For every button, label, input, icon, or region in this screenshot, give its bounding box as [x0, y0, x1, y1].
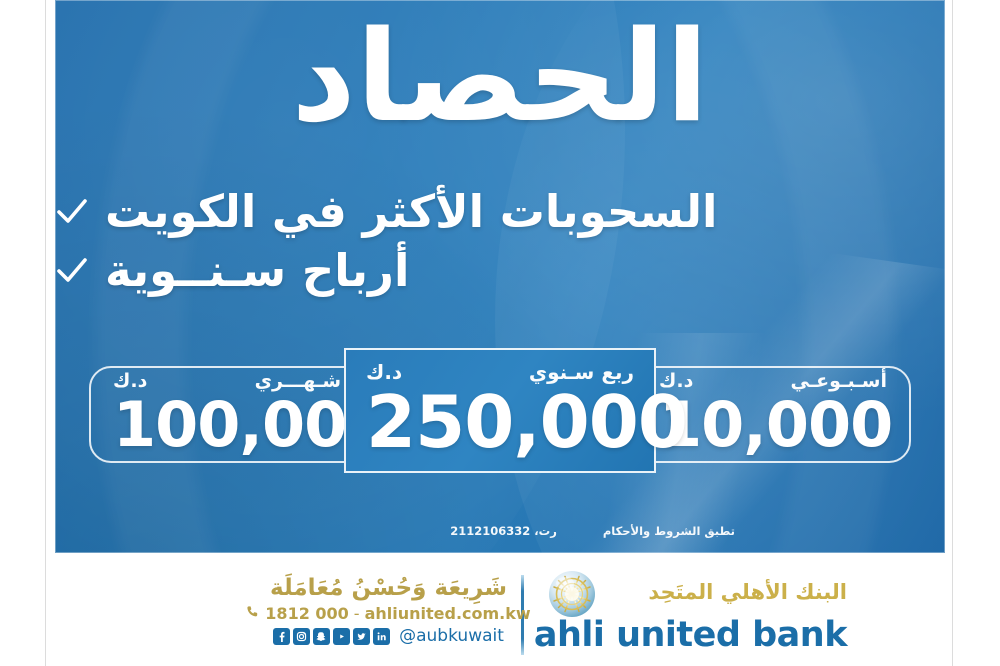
feature-item-1-label: السحوبات الأكثر في الكويت: [105, 185, 717, 240]
feature-list: السحوبات الأكثر في الكويت أرباح سـنــوية: [55, 185, 850, 303]
prize-band: أسـبـوعـي د.ك 10,000 ربع سـنوي د.ك 250,0…: [89, 348, 911, 476]
prize-card-monthly: شـهـــري د.ك 100,000: [91, 366, 359, 463]
footer-bar: شَرِيعَة وَحُسْنُ مُعَامَلَة 1812 000 - …: [55, 553, 945, 666]
contact-website[interactable]: ahliunited.com.kw: [365, 604, 531, 623]
check-icon: [55, 249, 89, 293]
prize-monthly-period: شـهـــري: [255, 372, 341, 391]
twitter-icon[interactable]: [353, 628, 370, 645]
youtube-icon[interactable]: [333, 628, 350, 645]
social-links: @aubkuwait: [273, 626, 504, 646]
prize-quarterly-currency: د.ك: [366, 362, 402, 382]
poster-headline: الحصاد: [55, 14, 945, 140]
license-number-text: رت، 2112106332: [450, 524, 557, 538]
terms-and-conditions-text: تطبق الشروط والأحكام: [603, 524, 735, 538]
bank-logo-top-row: البنك الأهلي المتَحِد: [547, 569, 847, 619]
facebook-icon[interactable]: [273, 628, 290, 645]
sharia-tagline: شَرِيعَة وَحُسْنُ مُعَامَلَة: [270, 576, 507, 601]
feature-item-2: أرباح سـنــوية: [55, 244, 850, 303]
page-guide-right: [952, 0, 953, 666]
globe-emblem-icon: [547, 569, 597, 619]
bank-logo: البنك الأهلي المتَحِد: [547, 567, 847, 655]
prize-card-quarterly: ربع سـنوي د.ك 250,000: [344, 348, 656, 473]
bank-name-english: ahli united bank: [534, 617, 847, 654]
page-guide-left: [45, 0, 46, 666]
poster-panel: الحصاد السحوبات الأكثر في الكويت أرباح س…: [55, 0, 945, 553]
phone-icon: [246, 605, 260, 622]
fine-print: تطبق الشروط والأحكام رت، 2112106332: [55, 524, 945, 538]
contact-block: شَرِيعَة وَحُسْنُ مُعَامَلَة 1812 000 - …: [271, 569, 506, 653]
check-icon: [55, 190, 89, 234]
contact-phone-number[interactable]: 1812 000: [265, 604, 349, 623]
ad-page: الحصاد السحوبات الأكثر في الكويت أرباح س…: [0, 0, 1000, 666]
prize-quarterly-period: ربع سـنوي: [529, 362, 634, 382]
prize-monthly-amount: 100,000: [113, 393, 341, 456]
prize-weekly-amount: 10,000: [659, 393, 887, 456]
prize-weekly-period: أسـبـوعـي: [790, 372, 887, 391]
snapchat-icon[interactable]: [313, 628, 330, 645]
instagram-icon[interactable]: [293, 628, 310, 645]
social-handle[interactable]: @aubkuwait: [399, 626, 504, 646]
prize-quarterly-amount: 250,000: [366, 386, 634, 459]
bank-name-arabic: البنك الأهلي المتَحِد: [607, 582, 847, 605]
linkedin-icon[interactable]: [373, 628, 390, 645]
contact-separator: -: [354, 604, 360, 623]
prize-monthly-currency: د.ك: [113, 372, 147, 391]
contact-line: 1812 000 - ahliunited.com.kw: [246, 604, 530, 623]
feature-item-2-label: أرباح سـنــوية: [105, 244, 409, 299]
feature-item-1: السحوبات الأكثر في الكويت: [55, 185, 850, 244]
